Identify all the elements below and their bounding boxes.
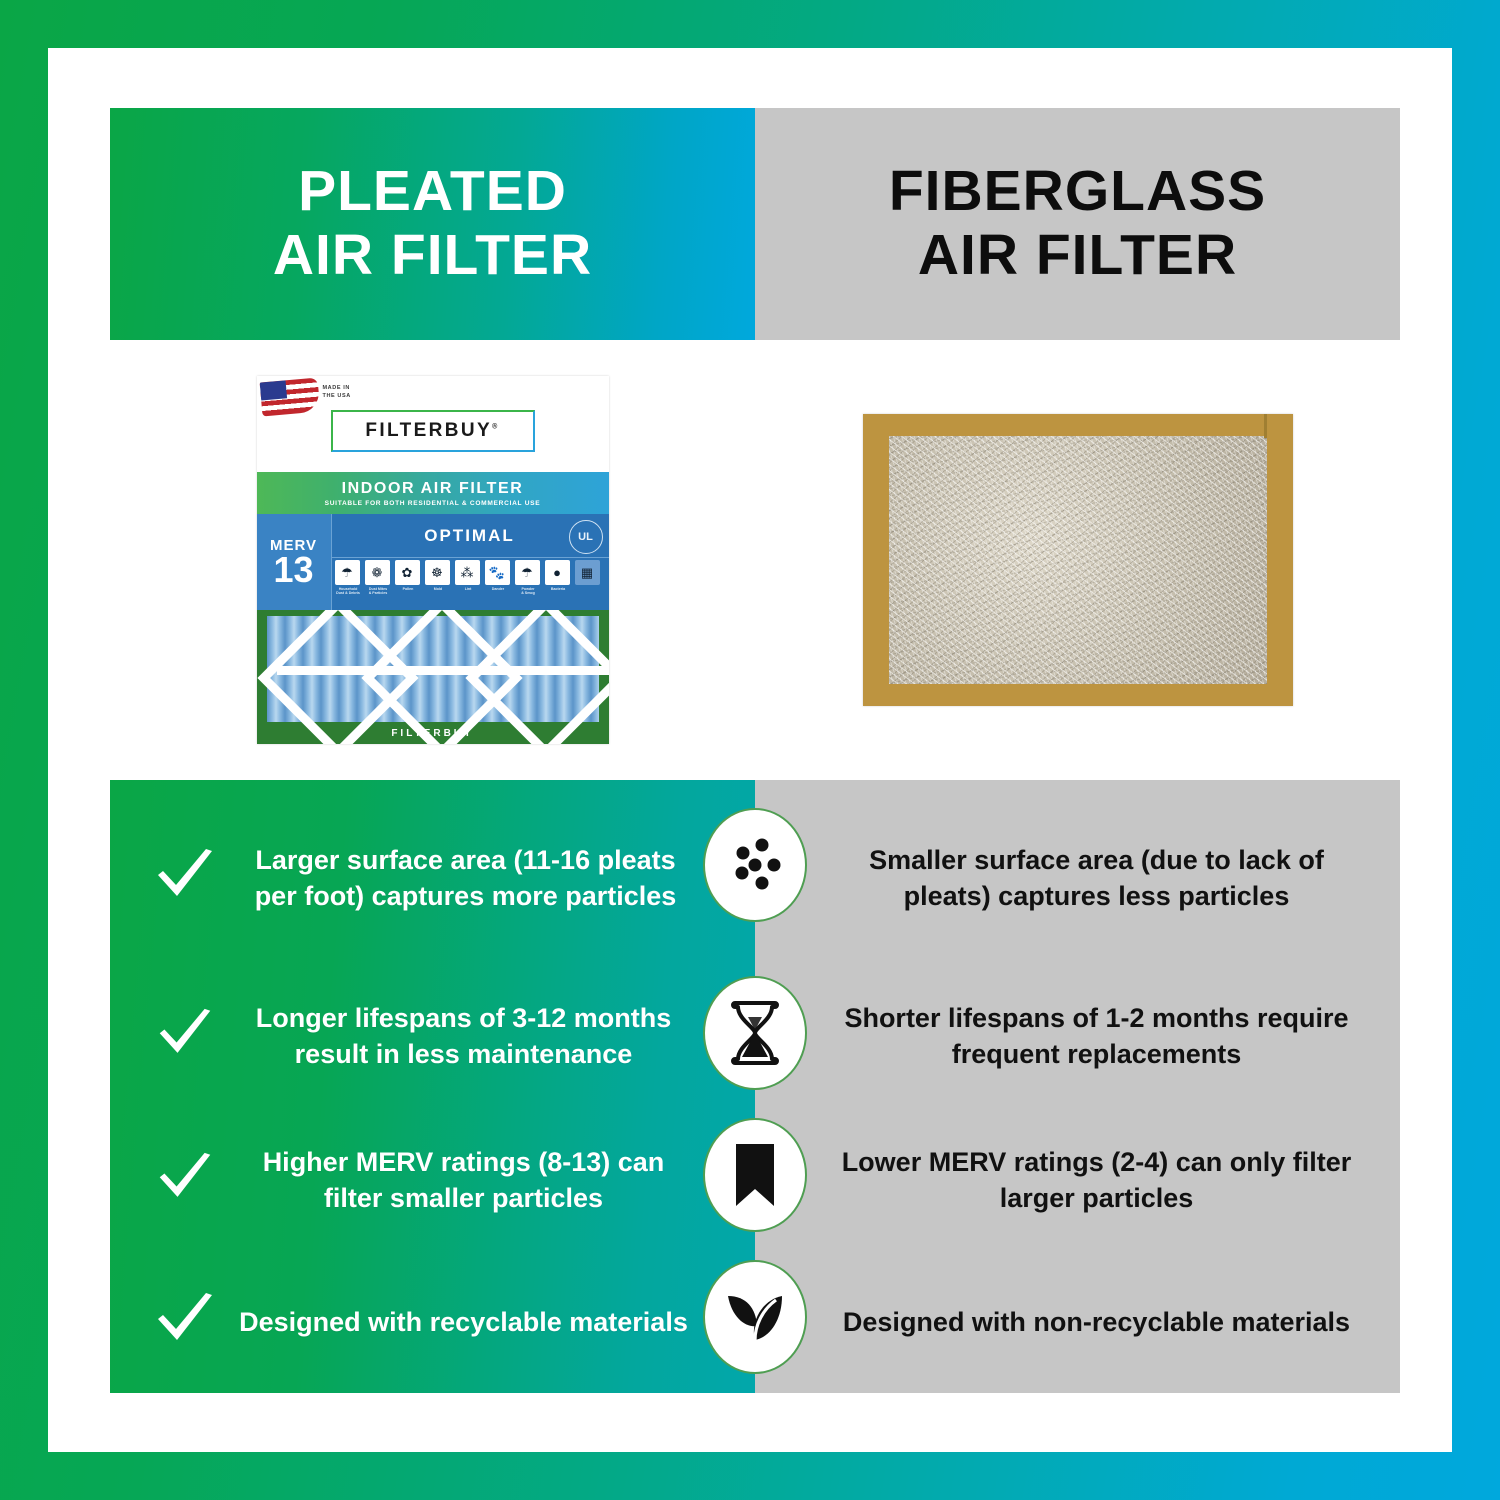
ul-certification-text: UL (578, 531, 593, 543)
header-pleated-line2: AIR FILTER (273, 224, 592, 288)
fiberglass-media (889, 436, 1267, 684)
comparison-row-pleated-text: Larger surface area (11-16 pleats per fo… (232, 842, 755, 914)
comparison-row-fiberglass: Shorter lifespans of 1-2 months require … (755, 1000, 1400, 1072)
product-footer-brand: FILTERBUY (257, 728, 609, 739)
check-icon (148, 849, 222, 907)
diamond-support-grid (267, 616, 599, 722)
comparison-row-pleated-text: Designed with recyclable materials (232, 1304, 755, 1340)
ul-certification-icon: UL (569, 520, 603, 554)
powder-smog-icon: ☂Powder& Smog (515, 560, 542, 596)
comparison-row-pleated-text: Longer lifespans of 3-12 months result i… (232, 1000, 755, 1072)
bacteria-icon: ●Bacteria (545, 560, 572, 591)
indoor-air-filter-subtitle: SUITABLE FOR BOTH RESIDENTIAL & COMMERCI… (325, 500, 541, 507)
header-pleated-title: PLEATED AIR FILTER (273, 160, 592, 288)
fiberglass-image-cell (755, 340, 1400, 780)
comparison-row-fiberglass-text: Shorter lifespans of 1-2 months require … (823, 1000, 1370, 1072)
comparison-row-fiberglass-text: Smaller surface area (due to lack of ple… (823, 842, 1370, 914)
particles-icon (703, 808, 807, 922)
fiberglass-filter-product-image (863, 414, 1293, 706)
header-fiberglass-line1: FIBERGLASS (889, 159, 1266, 223)
merv-value: 13 (273, 552, 313, 588)
pollen-particle-icon: ❁Dust Mites& Particles (365, 560, 392, 596)
product-header-area: MADE INTHE USA FILTERBUY® (257, 376, 609, 472)
leaf-recycle-icon (703, 1260, 807, 1374)
comparison-row-fiberglass: Lower MERV ratings (2-4) can only filter… (755, 1144, 1400, 1216)
pleated-image-cell: MADE INTHE USA FILTERBUY® INDOOR AIR FIL… (110, 340, 755, 780)
header-pleated-line1: PLEATED (298, 159, 567, 223)
header-band: PLEATED AIR FILTER FIBERGLASS AIR FILTER (110, 108, 1400, 340)
tier-label: OPTIMAL (424, 526, 515, 546)
infographic-content: PLEATED AIR FILTER FIBERGLASS AIR FILTER… (110, 108, 1400, 1393)
check-icon (148, 1008, 222, 1064)
pleated-media-illustration: FILTERBUY (257, 610, 609, 744)
comparison-row-fiberglass-text: Designed with non-recyclable materials (843, 1304, 1350, 1340)
indoor-air-filter-title: INDOOR AIR FILTER (342, 480, 524, 498)
header-fiberglass: FIBERGLASS AIR FILTER (755, 108, 1400, 340)
merv-rating-block: MERV 13 (257, 514, 332, 610)
fiberglass-frame-seam (1264, 414, 1267, 438)
check-icon (148, 1152, 222, 1208)
comparison-row-pleated: Higher MERV ratings (8-13) can filter sm… (110, 1144, 755, 1216)
usa-flag-icon (259, 378, 320, 417)
broom-icon: ☂HouseholdDust & Debris (335, 560, 362, 596)
product-image-row: MADE INTHE USA FILTERBUY® INDOOR AIR FIL… (110, 340, 1400, 780)
comparison-row-pleated: Larger surface area (11-16 pleats per fo… (110, 842, 755, 914)
comparison-row-fiberglass: Smaller surface area (due to lack of ple… (755, 842, 1400, 914)
merv-spec-panel: MERV 13 OPTIMAL UL ☂HouseholdDust & Debr… (257, 514, 609, 610)
filterbuy-logo-text: FILTERBUY® (365, 420, 499, 442)
comparison-row-fiberglass-text: Lower MERV ratings (2-4) can only filter… (823, 1144, 1370, 1216)
bookmark-icon (703, 1118, 807, 1232)
comparison-row-pleated: Designed with recyclable materials (110, 1293, 755, 1351)
header-fiberglass-title: FIBERGLASS AIR FILTER (889, 160, 1266, 288)
pleated-filter-product-image: MADE INTHE USA FILTERBUY® INDOOR AIR FIL… (257, 376, 609, 744)
tier-row: OPTIMAL (331, 514, 609, 558)
header-pleated: PLEATED AIR FILTER (110, 108, 755, 340)
comparison-rows: Larger surface area (11-16 pleats per fo… (110, 780, 1400, 1393)
hourglass-icon (703, 976, 807, 1090)
lint-icon: ⁂Lint (455, 560, 482, 591)
mold-icon: ☸Mold (425, 560, 452, 591)
comparison-row-pleated: Longer lifespans of 3-12 months result i… (110, 1000, 755, 1072)
filterbuy-logo: FILTERBUY® (331, 410, 535, 452)
capture-icon-strip: ☂HouseholdDust & Debris ❁Dust Mites& Par… (335, 560, 603, 606)
infographic-frame: PLEATED AIR FILTER FIBERGLASS AIR FILTER… (0, 0, 1500, 1500)
check-icon (148, 1293, 222, 1351)
pollen-icon: ✿Pollen (395, 560, 422, 591)
comparison-row-fiberglass: Designed with non-recyclable materials (755, 1304, 1400, 1340)
comparison-row-pleated-text: Higher MERV ratings (8-13) can filter sm… (232, 1144, 755, 1216)
made-in-usa-label: MADE INTHE USA (323, 384, 351, 401)
dander-paw-icon: 🐾Dander (485, 560, 512, 591)
filter-icon: ▦ (575, 560, 602, 587)
header-fiberglass-line2: AIR FILTER (889, 224, 1266, 288)
indoor-air-filter-band: INDOOR AIR FILTER SUITABLE FOR BOTH RESI… (257, 472, 609, 514)
